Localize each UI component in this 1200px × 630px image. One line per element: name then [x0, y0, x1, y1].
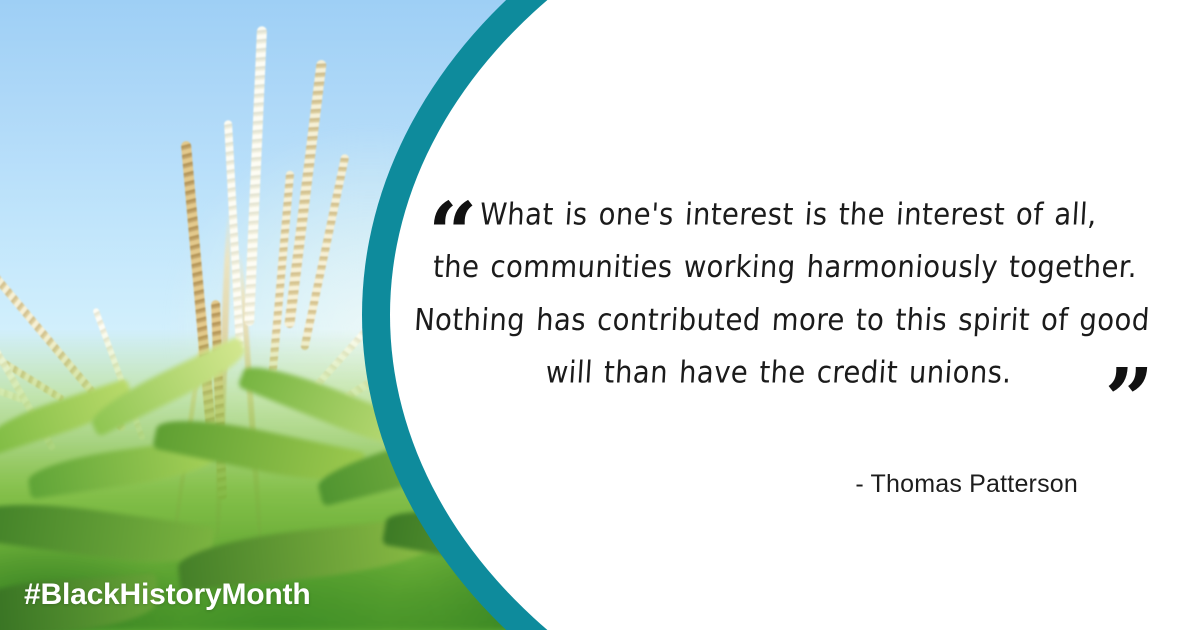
quote-line: will than have the credit unions. — [407, 346, 1150, 399]
quote-attribution: - Thomas Patterson — [420, 470, 1160, 499]
quote-line: Nothing has contributed more to this spi… — [410, 294, 1153, 347]
close-quote-mark: ” — [1105, 358, 1154, 444]
quote-text: What is one's interest is the interest o… — [407, 188, 1160, 399]
quote-card-canvas: #BlackHistoryMonth “ What is one's inter… — [0, 0, 1200, 630]
quote-block: “ What is one's interest is the interest… — [420, 188, 1160, 380]
quote-line: What is one's interest is the interest o… — [417, 188, 1160, 241]
hashtag-label: #BlackHistoryMonth — [24, 578, 310, 612]
quote-line: the communities working harmoniously tog… — [414, 241, 1157, 294]
